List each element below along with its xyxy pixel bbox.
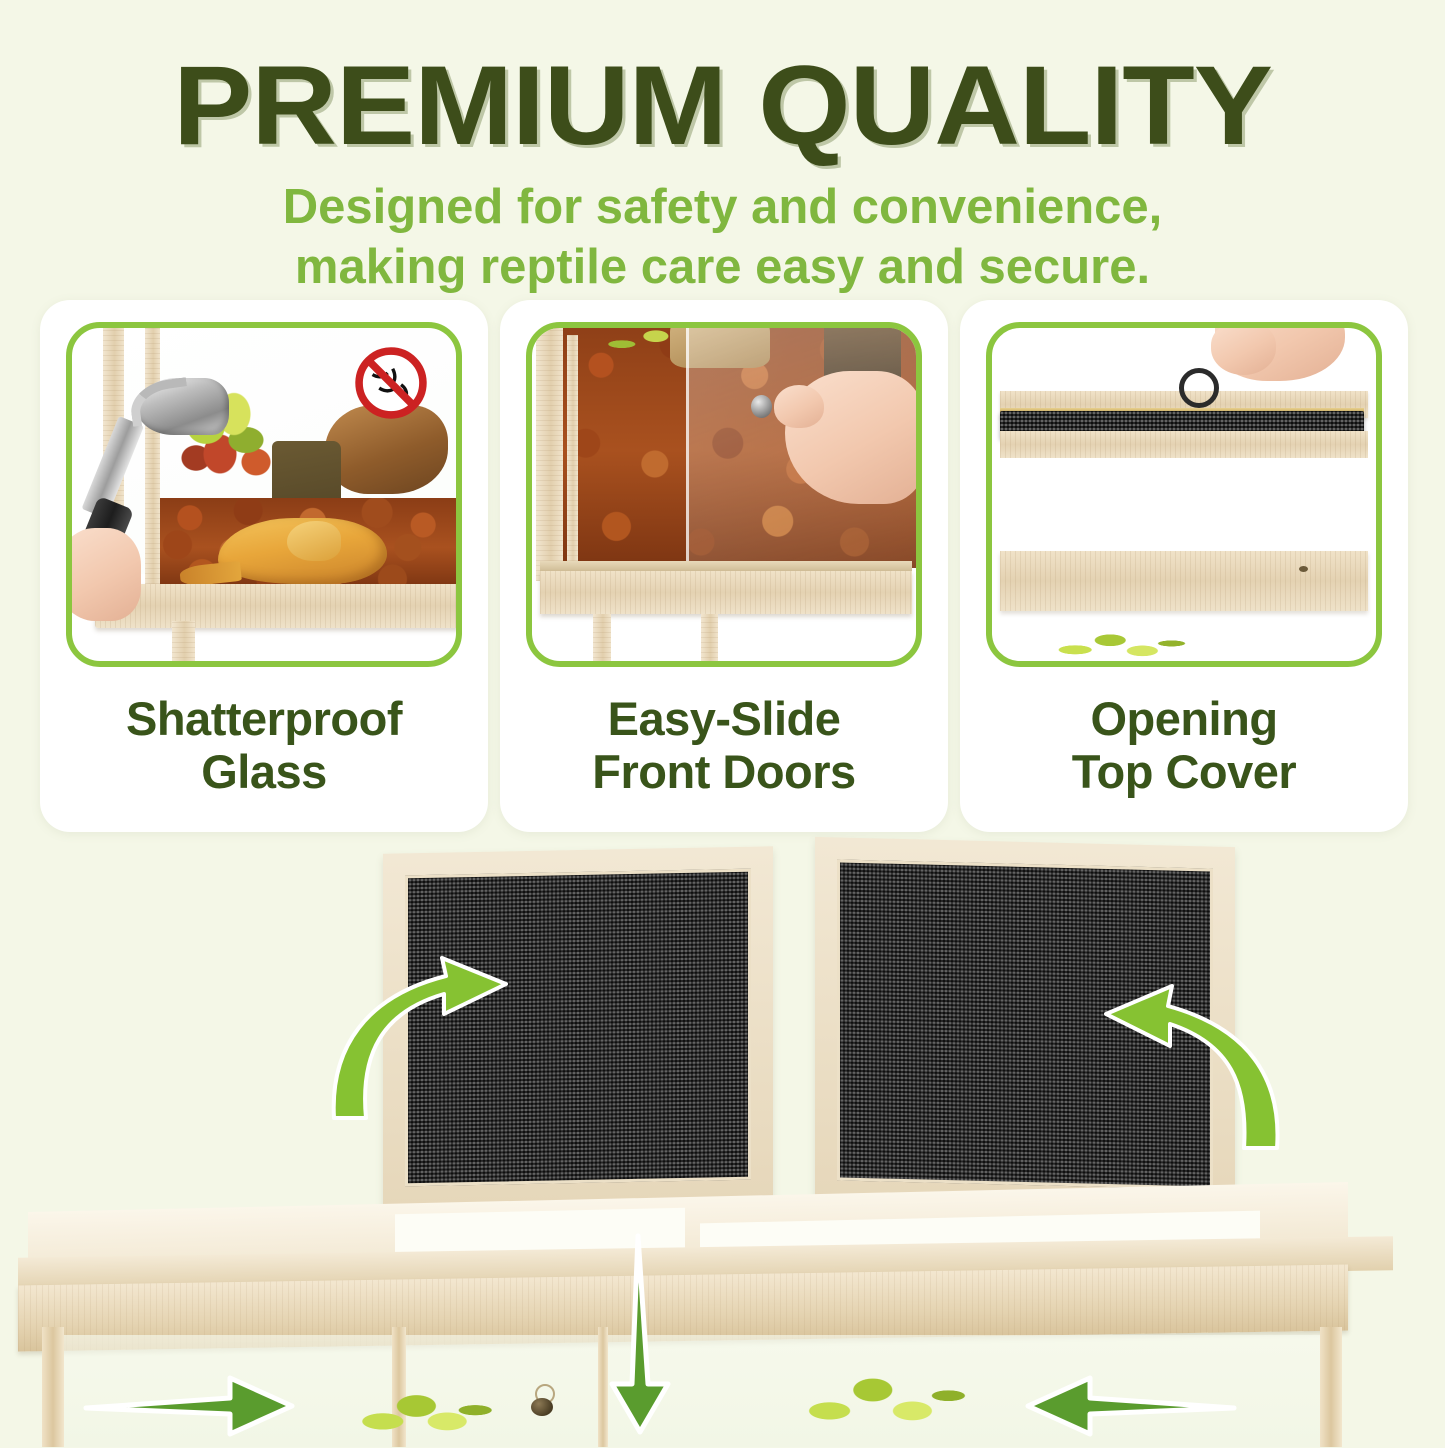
wood-leg-right	[701, 614, 718, 661]
wood-rail-left-inner	[145, 328, 160, 594]
arrow-left-side-icon	[80, 1368, 300, 1440]
feature-card-row: Shatterproof Glass	[40, 300, 1408, 832]
feature-card-label: Opening Top Cover	[1072, 693, 1296, 798]
enclosure-leg-right	[1320, 1327, 1342, 1447]
plant-decor-right	[790, 1352, 970, 1447]
hand	[72, 528, 141, 621]
feature-card-opening-top-cover[interactable]: Opening Top Cover	[960, 300, 1408, 832]
feature-card-label: Easy-Slide Front Doors	[592, 693, 855, 798]
front-door-knob[interactable]	[531, 1398, 553, 1416]
wood-lower-rail	[1000, 431, 1369, 458]
subtitle-line-2: making reptile care easy and secure.	[163, 238, 1283, 298]
header: PREMIUM QUALITY Designed for safety and …	[0, 0, 1445, 298]
wood-frame-left-inner	[567, 335, 579, 581]
photo-opening-top-cover	[992, 328, 1376, 661]
label-line-2: Front Doors	[592, 746, 855, 799]
product-scene	[0, 832, 1445, 1445]
label-line-2: Glass	[126, 746, 402, 799]
feature-card-easy-slide-front-doors[interactable]: Easy-Slide Front Doors	[500, 300, 948, 832]
wood-bottom-rail	[1000, 551, 1369, 611]
label-line-2: Top Cover	[1072, 746, 1296, 799]
wood-base-rail	[540, 571, 912, 614]
wood-base-rail	[95, 584, 456, 627]
enclosure-leg-left	[42, 1327, 64, 1447]
feature-card-shatterproof-glass[interactable]: Shatterproof Glass	[40, 300, 488, 832]
door-knob[interactable]	[751, 395, 772, 418]
photo-easy-slide-front-doors	[532, 328, 916, 661]
feature-photo-frame	[526, 322, 922, 667]
feature-photo-frame	[986, 322, 1382, 667]
wood-leg	[172, 621, 195, 661]
page-subtitle: Designed for safety and convenience, mak…	[163, 178, 1283, 298]
bearded-dragon-head	[287, 521, 341, 561]
wood-frame-left	[536, 328, 563, 581]
finger	[774, 385, 824, 428]
plant-decor-left	[352, 1378, 492, 1448]
page-title: PREMIUM QUALITY	[0, 0, 1445, 164]
label-line-1: Shatterproof	[126, 693, 402, 746]
photo-shatterproof-glass	[72, 328, 456, 661]
label-line-1: Opening	[1072, 693, 1296, 746]
curved-arrow-right-icon	[1072, 952, 1287, 1157]
no-crack-icon	[349, 341, 433, 425]
feature-photo-frame	[66, 322, 462, 667]
feature-card-label: Shatterproof Glass	[126, 693, 402, 798]
ring-pull[interactable]	[1179, 368, 1219, 408]
subtitle-line-1: Designed for safety and convenience,	[163, 178, 1283, 238]
curved-arrow-left-icon	[326, 928, 536, 1128]
arrow-center-icon	[600, 1232, 680, 1437]
arrow-right-side-icon	[1020, 1368, 1240, 1440]
plant-decor	[1046, 618, 1192, 661]
label-line-1: Easy-Slide	[592, 693, 855, 746]
wood-leg-left	[593, 614, 610, 661]
